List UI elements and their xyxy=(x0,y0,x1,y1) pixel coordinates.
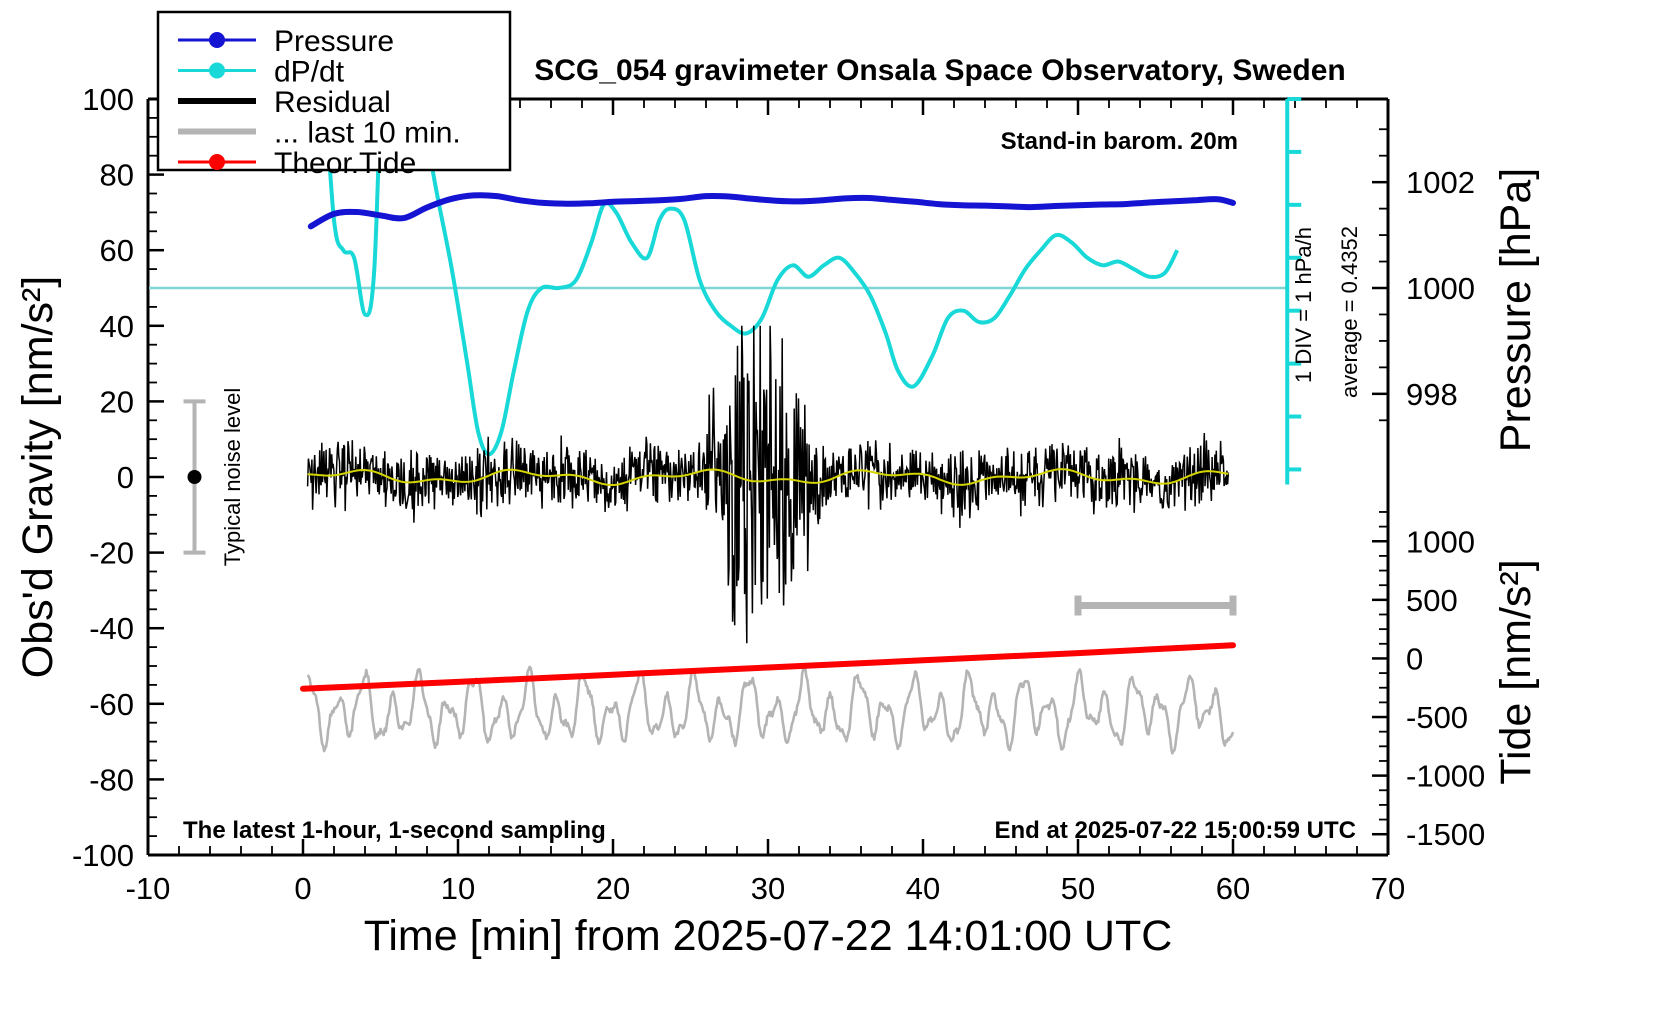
x-tick-label: 30 xyxy=(751,871,785,906)
y-right-tide-tick-label: 1000 xyxy=(1406,524,1475,559)
x-tick-label: 0 xyxy=(294,871,311,906)
y-left-tick-label: -80 xyxy=(89,762,134,797)
x-tick-label: 70 xyxy=(1371,871,1405,906)
y-left-tick-label: -100 xyxy=(72,838,134,873)
x-tick-label: 50 xyxy=(1061,871,1095,906)
y-right-tide-tick-label: -1500 xyxy=(1406,817,1485,852)
y-left-tick-label: 20 xyxy=(100,384,134,419)
footer-right-label: End at 2025-07-22 15:00:59 UTC xyxy=(995,817,1357,844)
typical-noise-level-label: Typical noise level xyxy=(220,388,245,567)
y-left-tick-label: 0 xyxy=(117,460,134,495)
standin-barom-label: Stand-in barom. 20m xyxy=(1001,128,1238,155)
chart-title: SCG_054 gravimeter Onsala Space Observat… xyxy=(534,54,1346,87)
y-left-tick-label: 40 xyxy=(100,309,134,344)
dpdt-average-label: average = 0.4352 xyxy=(1337,226,1362,398)
y-left-tick-label: -20 xyxy=(89,536,134,571)
y-right-tide-tick-label: 500 xyxy=(1406,583,1458,618)
y-right-pressure-tick-label: 998 xyxy=(1406,377,1458,412)
x-tick-label: 40 xyxy=(906,871,940,906)
y-left-tick-label: 100 xyxy=(82,82,134,117)
legend-label: Pressure xyxy=(274,25,394,58)
legend[interactable]: PressuredP/dtResidual... last 10 min.The… xyxy=(158,12,510,180)
y-right-tide-title: Tide [nm/s²] xyxy=(1492,559,1540,784)
x-tick-label: 10 xyxy=(441,871,475,906)
legend-marker xyxy=(209,32,225,48)
x-axis-title: Time [min] from 2025-07-22 14:01:00 UTC xyxy=(364,912,1173,960)
legend-label: ... last 10 min. xyxy=(274,117,461,150)
legend-marker xyxy=(209,154,225,170)
x-tick-label: 20 xyxy=(596,871,630,906)
legend-marker xyxy=(209,63,225,79)
legend-label: Residual xyxy=(274,86,391,119)
y-left-axis-title: Obs'd Gravity [nm/s²] xyxy=(14,276,62,678)
x-tick-label: 60 xyxy=(1216,871,1250,906)
y-left-tick-label: -60 xyxy=(89,687,134,722)
legend-label: dP/dt xyxy=(274,56,345,89)
y-right-tide-tick-label: -500 xyxy=(1406,700,1468,735)
y-right-pressure-tick-label: 1002 xyxy=(1406,165,1475,200)
y-left-tick-label: 80 xyxy=(100,158,134,193)
footer-left-label: The latest 1-hour, 1-second sampling xyxy=(183,817,606,844)
y-right-tide-tick-label: 0 xyxy=(1406,641,1423,676)
y-left-tick-label: -40 xyxy=(89,611,134,646)
y-right-pressure-title: Pressure [hPa] xyxy=(1492,168,1540,452)
y-left-tick-label: 60 xyxy=(100,233,134,268)
y-right-pressure-tick-label: 1000 xyxy=(1406,271,1475,306)
gravimeter-chart: 100806040200-20-40-60-80-100 Obs'd Gravi… xyxy=(0,0,1660,1020)
div-scale-label: 1 DIV = 1 hPa/h xyxy=(1291,227,1316,383)
y-right-tide-tick-label: -1000 xyxy=(1406,759,1485,794)
legend-label: Theor.Tide xyxy=(274,147,416,180)
x-tick-label: -10 xyxy=(126,871,171,906)
